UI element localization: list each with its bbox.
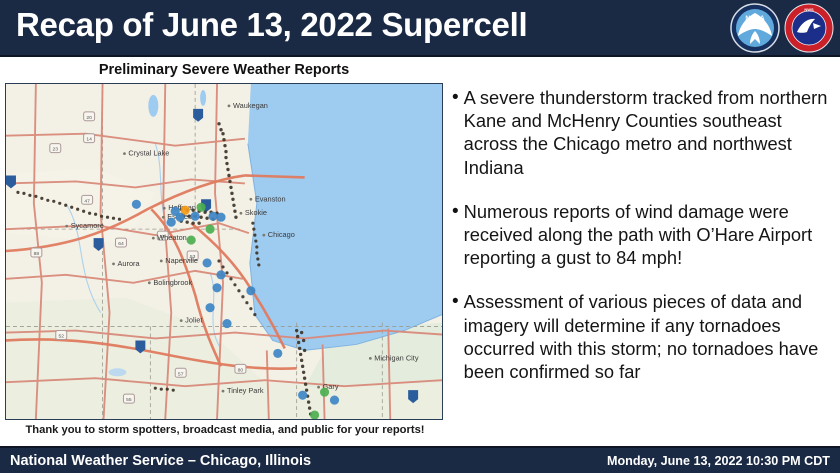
bullet-list: •A severe thunderstorm tracked from nort… bbox=[452, 86, 840, 404]
storm-report-markers[interactable] bbox=[6, 84, 442, 419]
storm-report-marker-wind[interactable] bbox=[202, 258, 211, 267]
noaa-logo: NOAA bbox=[730, 3, 780, 53]
bullet-item: •A severe thunderstorm tracked from nort… bbox=[452, 86, 840, 179]
bullet-text: A severe thunderstorm tracked from north… bbox=[464, 86, 840, 179]
svg-text:NWS: NWS bbox=[804, 7, 814, 12]
bullet-text: Numerous reports of wind damage were rec… bbox=[464, 200, 840, 270]
nws-logo: NWS bbox=[784, 3, 834, 53]
footer-timestamp: Monday, June 13, 2022 10:30 PM CDT bbox=[607, 454, 830, 468]
storm-report-marker-wind[interactable] bbox=[273, 349, 282, 358]
storm-report-marker-wind[interactable] bbox=[216, 270, 225, 279]
slide: Recap of June 13, 2022 Supercell NOAA NW… bbox=[0, 0, 840, 473]
bullet-marker-icon: • bbox=[452, 86, 459, 179]
bullet-item: •Assessment of various pieces of data an… bbox=[452, 290, 840, 383]
map-credit-note: Thank you to storm spotters, broadcast m… bbox=[0, 424, 450, 436]
storm-report-marker-wind[interactable] bbox=[330, 396, 339, 405]
storm-report-marker-wind[interactable] bbox=[176, 213, 185, 222]
logo-group: NOAA NWS bbox=[730, 3, 834, 53]
storm-report-marker-hail[interactable] bbox=[197, 203, 206, 212]
storm-report-marker-wind[interactable] bbox=[167, 218, 176, 227]
slide-footer: National Weather Service – Chicago, Illi… bbox=[0, 446, 840, 473]
slide-header: Recap of June 13, 2022 Supercell NOAA NW… bbox=[0, 0, 840, 57]
storm-report-marker-wind[interactable] bbox=[208, 212, 217, 221]
storm-report-marker-hail[interactable] bbox=[187, 235, 196, 244]
severe-weather-report-map[interactable]: 20 14 23 47 88 64 53 38 52 57 80 55 bbox=[5, 83, 443, 420]
storm-report-marker-hail[interactable] bbox=[310, 410, 319, 419]
svg-text:NOAA: NOAA bbox=[745, 15, 764, 22]
storm-report-marker-wind[interactable] bbox=[132, 200, 141, 209]
storm-report-marker-wind[interactable] bbox=[216, 213, 225, 222]
map-title: Preliminary Severe Weather Reports bbox=[0, 62, 448, 78]
bullet-item: •Numerous reports of wind damage were re… bbox=[452, 200, 840, 270]
storm-report-marker-hail[interactable] bbox=[205, 225, 214, 234]
storm-report-marker-wind[interactable] bbox=[212, 283, 221, 292]
page-title: Recap of June 13, 2022 Supercell bbox=[16, 6, 527, 44]
storm-report-marker-wind[interactable] bbox=[191, 212, 200, 221]
storm-report-marker-wind[interactable] bbox=[246, 286, 255, 295]
storm-report-marker-wind[interactable] bbox=[298, 391, 307, 400]
storm-report-marker-wind[interactable] bbox=[222, 319, 231, 328]
storm-report-marker-wind[interactable] bbox=[205, 303, 214, 312]
bullet-marker-icon: • bbox=[452, 290, 459, 383]
footer-office: National Weather Service – Chicago, Illi… bbox=[10, 453, 311, 469]
storm-report-marker-hail[interactable] bbox=[320, 388, 329, 397]
bullet-text: Assessment of various pieces of data and… bbox=[464, 290, 840, 383]
bullet-marker-icon: • bbox=[452, 200, 459, 270]
